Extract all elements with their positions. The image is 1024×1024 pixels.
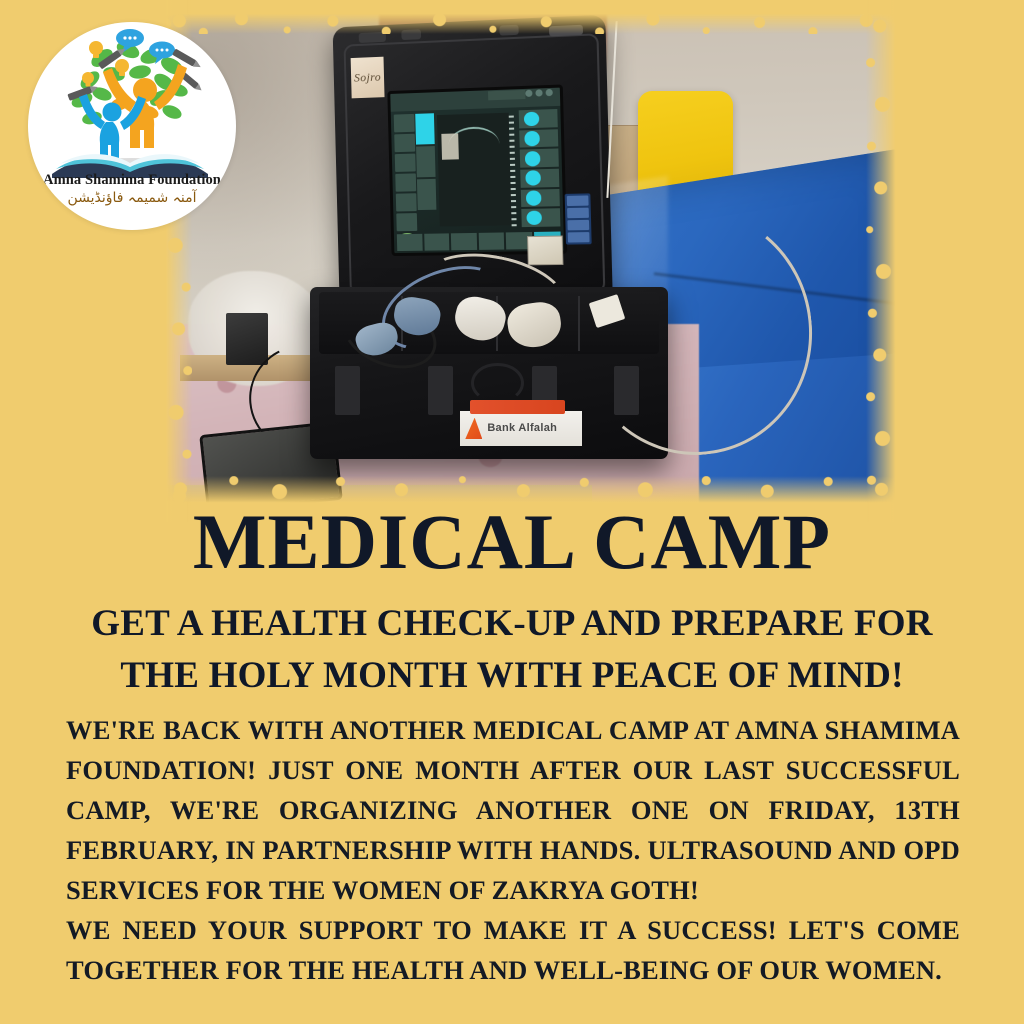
equipment-tag	[527, 236, 563, 265]
bank-alfalah-sticker: Bank Alfalah	[460, 411, 582, 445]
case-latch	[335, 366, 360, 414]
screen-gain-slider	[520, 169, 558, 188]
usb-port	[568, 220, 590, 230]
screen-left-toolbar	[394, 114, 417, 250]
screen-gain-slider	[519, 109, 557, 128]
screen-mode-button	[417, 178, 436, 209]
case-latch	[428, 366, 453, 414]
usb-port	[568, 232, 590, 242]
foundation-logo: Amna Shamima Foundation آمنہ شمیمہ فاؤنڈ…	[28, 22, 236, 230]
bank-alfalah-logo-icon	[465, 418, 482, 439]
usb-hub	[565, 194, 592, 245]
screen-bottom-button	[424, 233, 450, 251]
hero-photo: PTY B 4 MG A.U 4 BLL MT AR	[150, 0, 912, 522]
subheadline-line-2: THE HOLY MONTH WITH PEACE OF MIND!	[0, 656, 1024, 696]
sticker-orange-bar	[470, 400, 565, 414]
screen-tool-button	[394, 134, 414, 152]
page-title: MEDICAL CAMP	[0, 502, 1024, 582]
screen-control-dot	[525, 89, 532, 96]
subheadline-line-1: GET A HEALTH CHECK-UP AND PREPARE FOR	[0, 604, 1024, 644]
logo-foundation-name-urdu: آمنہ شمیمہ فاؤنڈیشن	[28, 190, 236, 206]
screen-tool-button	[396, 193, 416, 211]
screen-right-panel	[519, 109, 560, 227]
case-handle	[471, 363, 524, 403]
usb-port	[567, 208, 589, 218]
screen-bottom-button	[478, 232, 504, 250]
ultrasound-screen	[387, 85, 567, 256]
screen-gain-slider	[520, 149, 558, 168]
screen-bottom-button	[397, 233, 422, 251]
screen-mode-column	[415, 113, 436, 209]
screen-gain-slider	[521, 188, 559, 207]
screen-measurement-note	[441, 133, 458, 159]
usb-port	[567, 196, 589, 207]
screen-tool-button	[396, 213, 416, 231]
tree-logo-icon	[28, 28, 236, 178]
body-paragraph-1: WE'RE BACK WITH ANOTHER MEDICAL CAMP AT …	[66, 710, 960, 910]
logo-foundation-name: Amna Shamima Foundation	[28, 172, 236, 189]
sponsor-name: Bank Alfalah	[487, 422, 557, 434]
screen-mode-button	[416, 146, 435, 177]
poster-canvas: PTY B 4 MG A.U 4 BLL MT AR	[0, 0, 1024, 1024]
screen-window-controls	[525, 88, 553, 96]
screen-patient-info	[487, 89, 525, 100]
lid-hinge-tab	[499, 24, 519, 35]
screen-tool-button	[394, 114, 414, 133]
lid-hinge-tab	[401, 29, 420, 40]
photo-content: PTY B 4 MG A.U 4 BLL MT AR	[150, 0, 912, 522]
screen-mode-active	[415, 113, 434, 144]
body-paragraph-2: WE NEED YOUR SUPPORT TO MAKE IT A SUCCES…	[66, 910, 960, 990]
lid-velcro-patch	[549, 24, 583, 36]
screen-gain-slider	[521, 208, 559, 227]
screen-control-dot	[535, 89, 542, 96]
sojro-brand-label: Sojro	[350, 57, 384, 99]
lid-hinge-tab	[359, 32, 386, 43]
black-adapter-box	[226, 313, 268, 365]
body-copy: WE'RE BACK WITH ANOTHER MEDICAL CAMP AT …	[66, 710, 960, 990]
screen-gain-slider	[519, 129, 557, 148]
screen-bottom-button	[451, 233, 477, 251]
screen-tool-button	[395, 174, 415, 192]
screen-tool-button	[395, 154, 415, 172]
screen-control-dot	[546, 88, 553, 95]
screen-top-bar	[390, 88, 560, 112]
